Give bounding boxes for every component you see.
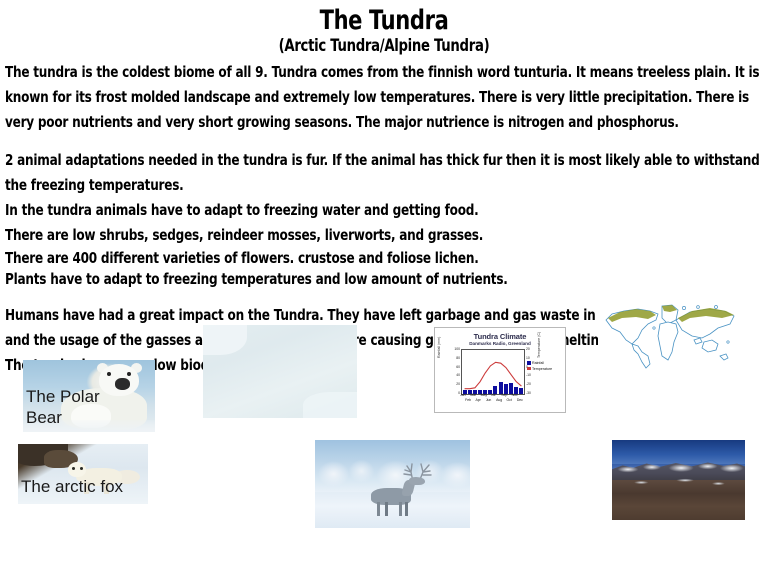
chart-ytick-20: 20 — [456, 383, 460, 386]
frosted-trees — [315, 452, 470, 492]
arctic-fox-head — [68, 462, 86, 477]
reindeer-leg-4 — [405, 502, 408, 516]
page-title: The Tundra — [84, 6, 683, 36]
title-block: The Tundra (Arctic Tundra/Alpine Tundra) — [0, 6, 768, 56]
chart-y2tick-20: 20 — [526, 348, 530, 351]
chart-ytick-40: 40 — [456, 374, 460, 377]
map-new-zealand — [720, 354, 728, 360]
world-tundra-map — [598, 298, 746, 370]
arctic-fox-eye-left — [72, 467, 75, 470]
legend-label-rainfall: Rainfall — [532, 361, 544, 365]
map-africa-europe — [658, 322, 678, 360]
chart-month-nov: Nov — [512, 394, 518, 397]
reindeer-leg-3 — [399, 502, 402, 516]
paragraph-flower-varieties: There are 400 different varieties of flo… — [5, 248, 766, 269]
paragraph-intro: The tundra is the coldest biome of all 9… — [5, 60, 766, 135]
polar-bear-caption: The Polar Bear — [26, 386, 100, 428]
chart-y2tick--10: -10 — [526, 374, 531, 377]
legend-swatch-temperature — [527, 367, 531, 371]
chart-y2tick--20: -20 — [526, 383, 531, 386]
polar-bear-eye-right — [127, 372, 131, 376]
reindeer-photo — [315, 440, 470, 528]
map-australia — [702, 340, 718, 352]
chart-y-axis-label: Rainfall (mm) — [437, 337, 441, 358]
chart-legend: Rainfall Temperature — [527, 361, 552, 372]
paragraph-plant-adaptations: Plants have to adapt to freezing tempera… — [5, 269, 766, 290]
legend-swatch-rainfall — [527, 361, 531, 365]
chart-month-feb: Feb — [465, 399, 471, 402]
legend-item-temperature: Temperature — [527, 367, 552, 371]
arctic-fox-eye-right — [80, 467, 83, 470]
chart-subtitle: Danmarks Radio, Greenland — [435, 341, 565, 346]
chart-y2tick-10: 10 — [526, 357, 530, 360]
reindeer-leg-1 — [377, 502, 380, 516]
chart-month-mar: Mar — [470, 394, 476, 397]
legend-label-temperature: Temperature — [532, 367, 552, 371]
chart-month-apr: Apr — [476, 399, 481, 402]
page-subtitle: (Arctic Tundra/Alpine Tundra) — [84, 36, 683, 56]
landscape-snow-caps — [612, 461, 745, 475]
chart-month-may: May — [481, 394, 487, 397]
chart-title: Tundra Climate — [435, 332, 565, 341]
chart-month-dec: Dec — [517, 399, 523, 402]
chart-month-oct: Oct — [507, 399, 512, 402]
chart-month-jun: Jun — [486, 399, 491, 402]
chart-month-labels: JanFebMarAprMayJunJulAugSepOctNovDec — [461, 394, 523, 406]
chart-y2tick--30: -30 — [526, 392, 531, 395]
chart-temperature-line — [462, 350, 524, 394]
tundra-flowers-photo — [203, 325, 357, 418]
reindeer-leg-2 — [385, 502, 388, 516]
legend-item-rainfall: Rainfall — [527, 361, 552, 365]
chart-month-jan: Jan — [460, 394, 465, 397]
paragraph-plants-list: There are low shrubs, sedges, reindeer m… — [5, 223, 766, 248]
map-indonesia — [694, 338, 702, 344]
landscape-snow-streaks — [612, 477, 745, 488]
purple-saxifrage-clump — [221, 337, 341, 403]
polar-bear-eye-left — [107, 372, 111, 376]
chart-plot-area: 020406080100 -30-20-1001020 — [461, 349, 525, 395]
reindeer-head — [409, 477, 425, 485]
paragraph-animal-adaptations: 2 animal adaptations needed in the tundr… — [5, 148, 766, 198]
tundra-landscape-photo — [612, 440, 745, 520]
chart-ytick-60: 60 — [456, 366, 460, 369]
chart-y2-axis-label: Temperature (C) — [537, 332, 541, 358]
chart-ytick-80: 80 — [456, 357, 460, 360]
chart-ytick-100: 100 — [454, 348, 460, 351]
paragraph-animal-food: In the tundra animals have to adapt to f… — [5, 198, 766, 223]
tundra-climate-chart: Tundra Climate Danmarks Radio, Greenland… — [434, 327, 566, 413]
chart-month-sep: Sep — [501, 394, 507, 397]
chart-month-aug: Aug — [496, 399, 502, 402]
chart-month-jul: Jul — [491, 394, 495, 397]
map-south-america — [632, 344, 650, 368]
arctic-fox-caption: The arctic fox — [21, 476, 123, 497]
world-map-svg — [598, 298, 746, 370]
polar-bear-snout — [115, 378, 130, 390]
